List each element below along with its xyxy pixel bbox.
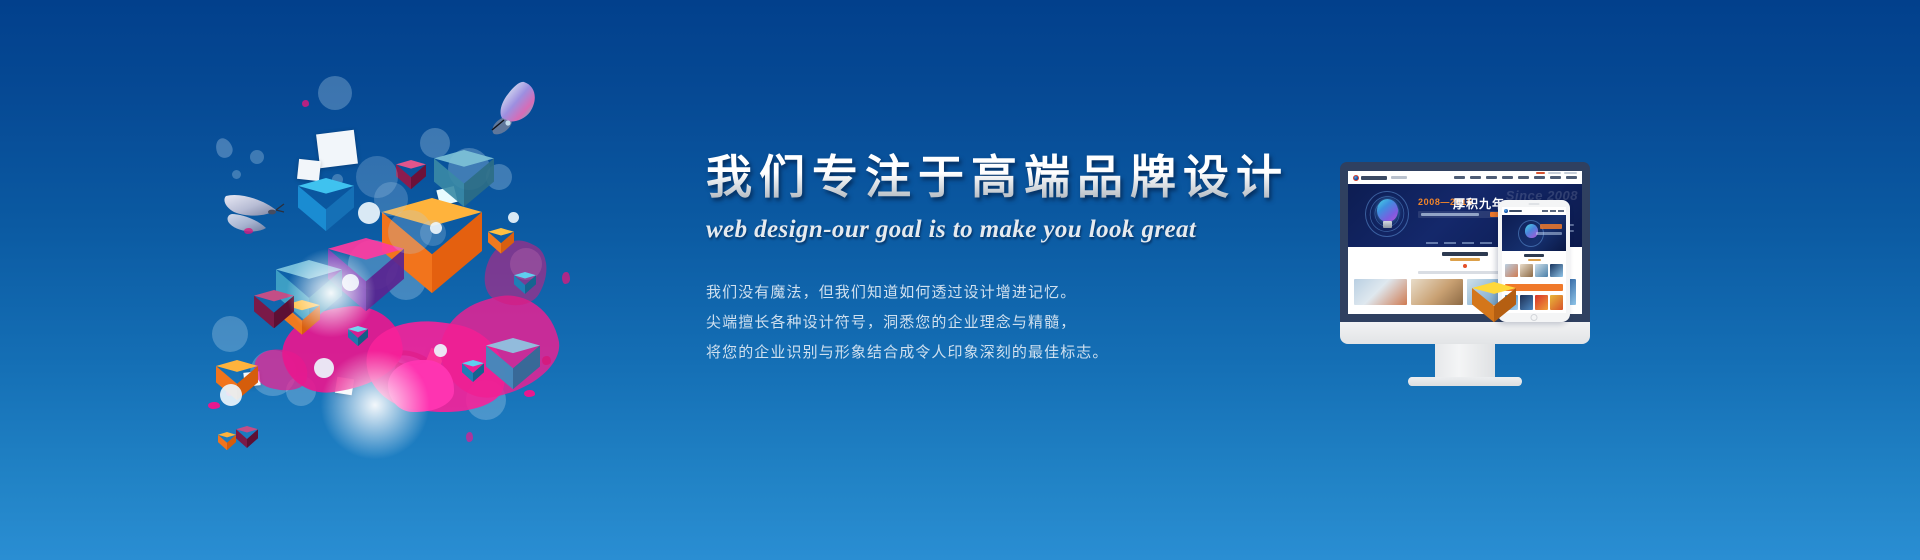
isometric-cube — [298, 178, 354, 236]
bubble — [430, 222, 442, 234]
bulb-body — [1525, 224, 1538, 238]
nav-item — [1486, 176, 1497, 179]
site-logo — [1353, 175, 1407, 181]
nav-item — [1454, 176, 1465, 179]
gallery-thumbnail[interactable] — [1520, 295, 1533, 310]
section-title — [1442, 252, 1488, 256]
monitor-chin — [1340, 322, 1590, 344]
nav-item — [1550, 176, 1561, 179]
nav-item — [1534, 176, 1545, 179]
bubble — [212, 316, 248, 352]
card-thumbnail[interactable] — [1354, 279, 1407, 305]
crescent-shape — [213, 136, 235, 160]
site-navbar — [1348, 171, 1582, 184]
mobile-section — [1502, 251, 1566, 280]
carousel-dot[interactable] — [1426, 242, 1438, 244]
mobile-navbar — [1502, 207, 1566, 215]
carousel-dot[interactable] — [1444, 242, 1456, 244]
gallery-thumbnail[interactable] — [1535, 295, 1548, 310]
phone-home-button[interactable] — [1531, 314, 1538, 321]
isometric-cube — [488, 228, 514, 256]
site-topbar — [1536, 172, 1577, 174]
bubble — [232, 170, 241, 179]
light-glow — [320, 350, 430, 460]
card-thumbnail[interactable] — [1505, 264, 1518, 277]
butterfly-icon — [218, 188, 288, 246]
bubble — [318, 76, 352, 110]
logo-globe-icon — [1353, 175, 1359, 181]
mobile-hero-subtitle — [1536, 232, 1562, 235]
carousel-dot[interactable] — [1462, 242, 1474, 244]
bubble — [220, 384, 242, 406]
section-subtitle — [1528, 259, 1541, 261]
card-thumbnail[interactable] — [1411, 279, 1464, 305]
monitor-stand-neck — [1435, 344, 1495, 380]
bubble — [434, 344, 447, 357]
nav-item — [1550, 210, 1556, 212]
isometric-cube — [462, 360, 484, 384]
topbar-link — [1564, 172, 1577, 174]
mobile-hero — [1502, 215, 1566, 251]
logo-wordmark — [1509, 210, 1522, 213]
logo-wordmark — [1361, 176, 1387, 180]
logo-globe-icon — [1504, 209, 1508, 213]
card-thumbnail[interactable] — [1550, 264, 1563, 277]
white-square — [316, 130, 358, 168]
nav-item — [1566, 176, 1577, 179]
phone-speaker — [1529, 203, 1540, 205]
topbar-link — [1548, 172, 1561, 174]
isometric-cube — [236, 426, 258, 450]
abstract-artwork — [190, 60, 610, 480]
lightbulb-graphic — [1365, 191, 1409, 237]
section-title — [1524, 254, 1544, 257]
butterfly-icon — [478, 78, 542, 136]
page-subtitle: web design-our goal is to make you look … — [706, 216, 1326, 244]
cube-right-face — [1494, 288, 1516, 322]
cube-left-face — [1472, 288, 1494, 322]
hero-carousel-dots[interactable] — [1426, 242, 1492, 244]
card-thumbnail[interactable] — [1535, 264, 1548, 277]
gallery-thumbnail[interactable] — [1550, 295, 1563, 310]
paint-droplet — [302, 100, 309, 107]
carousel-dot[interactable] — [1480, 242, 1492, 244]
description-line: 我们没有魔法，但我们知道如何透过设计增进记忆。 — [706, 278, 1326, 308]
isometric-cube — [434, 150, 494, 212]
nav-item — [1470, 176, 1481, 179]
device-mockups: Since 2008 2008—2016 厚积九年 — [1322, 162, 1622, 392]
bulb-body — [1377, 199, 1398, 222]
paint-droplet — [542, 356, 551, 365]
isometric-cube — [514, 272, 536, 296]
paint-droplet — [562, 272, 570, 284]
nav-item — [1542, 210, 1548, 212]
hero-copy: 我们专注于高端品牌设计 web design-our goal is to ma… — [706, 150, 1326, 368]
page-title: 我们专注于高端品牌设计 — [706, 150, 1326, 204]
bubble — [358, 202, 380, 224]
card-thumbnail[interactable] — [1520, 264, 1533, 277]
monitor-stand-base — [1408, 377, 1522, 386]
description-line: 尖端擅长各种设计符号，洞悉您的企业理念与精髓， — [706, 308, 1326, 338]
site-nav-items — [1454, 176, 1577, 179]
orange-isometric-cube — [1472, 282, 1516, 326]
paint-droplet — [466, 432, 473, 442]
section-marker — [1463, 264, 1467, 268]
light-glow — [286, 248, 376, 338]
phone-number — [1536, 172, 1545, 174]
mobile-card-grid — [1505, 264, 1563, 277]
hero-subtitle-text — [1421, 213, 1479, 216]
bubble — [508, 212, 519, 223]
nav-item — [1518, 176, 1529, 179]
nav-item — [1558, 210, 1564, 212]
hero-banner: 我们专注于高端品牌设计 web design-our goal is to ma… — [0, 0, 1920, 560]
paint-droplet — [244, 228, 253, 234]
isometric-cube — [486, 338, 540, 394]
isometric-cube — [218, 432, 236, 452]
bubble — [250, 150, 264, 164]
description-line: 将您的企业识别与形象结合成令人印象深刻的最佳标志。 — [706, 338, 1326, 368]
nav-item — [1502, 176, 1513, 179]
logo-tagline — [1391, 176, 1407, 179]
description-block: 我们没有魔法，但我们知道如何透过设计增进记忆。 尖端擅长各种设计符号，洞悉您的企… — [706, 278, 1326, 368]
mobile-nav-items — [1542, 210, 1564, 212]
section-subtitle — [1450, 258, 1480, 261]
bulb-base — [1383, 221, 1392, 228]
mobile-hero-title — [1540, 224, 1562, 229]
